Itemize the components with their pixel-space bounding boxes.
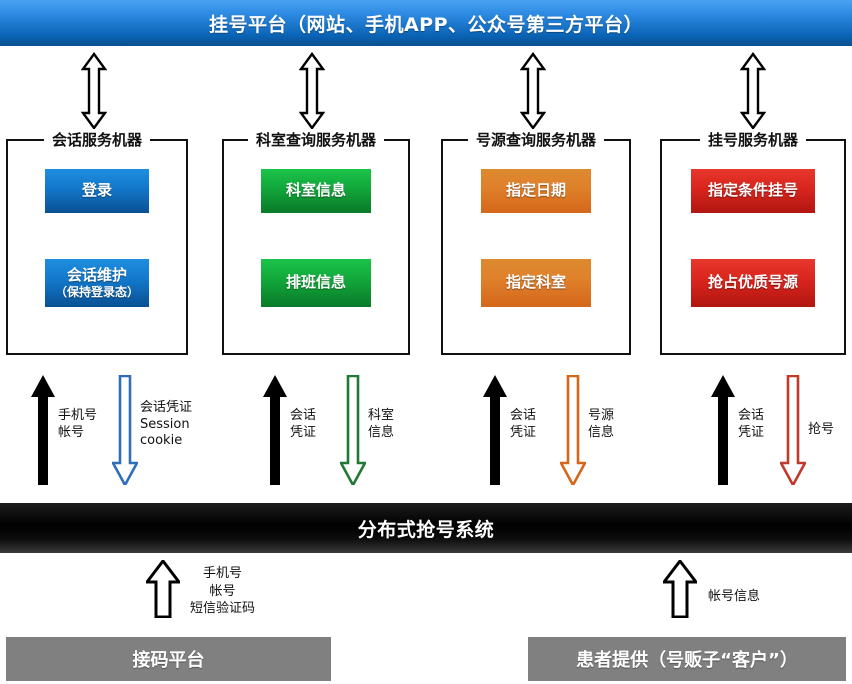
service-button-conditional-registration-label: 指定条件挂号	[708, 182, 798, 200]
hollow-arrow-up-icon-right	[663, 560, 697, 622]
service-button-department-info[interactable]: 科室信息	[261, 169, 371, 213]
service-button-specify-department[interactable]: 指定科室	[481, 259, 591, 307]
service-button-session-keepalive[interactable]: 会话维护 （保持登录态）	[45, 259, 149, 307]
service-button-login[interactable]: 登录	[45, 169, 149, 213]
top-platform-title: 挂号平台（网站、手机APP、公众号第三方平台）	[209, 10, 643, 37]
service-button-specify-date[interactable]: 指定日期	[481, 169, 591, 213]
group-box-department-query-server: 科室查询服务机器 科室信息 排班信息	[222, 139, 410, 355]
source-box-patient-provided-label: 患者提供（号贩子“客户”）	[576, 646, 798, 672]
flow-label-col4-down: 抢号	[808, 422, 834, 439]
flow-label-col1-up: 手机号 帐号	[58, 408, 97, 441]
group-title-slot-query-server: 号源查询服务机器	[468, 129, 604, 150]
arrow-down-icon-col1	[112, 375, 138, 489]
diagram-canvas: 挂号平台（网站、手机APP、公众号第三方平台） 会话服务机器 登录 会话维护 （…	[0, 0, 852, 684]
service-button-specify-department-label: 指定科室	[506, 274, 566, 292]
double-arrow-vertical-icon-1	[81, 52, 107, 130]
top-platform-bar: 挂号平台（网站、手机APP、公众号第三方平台）	[0, 0, 852, 46]
group-box-slot-query-server: 号源查询服务机器 指定日期 指定科室	[441, 139, 631, 355]
source-box-patient-provided[interactable]: 患者提供（号贩子“客户”）	[528, 637, 846, 681]
service-button-conditional-registration[interactable]: 指定条件挂号	[691, 169, 815, 213]
bottom-flow-label-right: 帐号信息	[708, 588, 760, 606]
service-button-login-label: 登录	[82, 182, 112, 200]
arrow-down-icon-col3	[560, 375, 586, 489]
group-title-session-server: 会话服务机器	[44, 129, 150, 150]
service-button-grab-premium-slot-label: 抢占优质号源	[708, 274, 798, 292]
source-box-sms-platform[interactable]: 接码平台	[6, 637, 331, 681]
flow-label-col2-down: 科室 信息	[368, 408, 394, 441]
service-button-session-keepalive-sublabel: （保持登录态）	[55, 285, 139, 299]
service-button-specify-date-label: 指定日期	[506, 182, 566, 200]
distributed-system-title: 分布式抢号系统	[358, 515, 495, 542]
service-button-schedule-info-label: 排班信息	[286, 274, 346, 292]
double-arrow-vertical-icon-3	[520, 52, 546, 130]
group-box-registration-server: 挂号服务机器 指定条件挂号 抢占优质号源	[660, 139, 846, 355]
flow-label-col3-up: 会话 凭证	[510, 408, 536, 441]
flow-label-col1-down: 会话凭证 Session cookie	[140, 400, 192, 450]
arrow-down-icon-col4	[780, 375, 806, 489]
group-title-department-query-server: 科室查询服务机器	[248, 129, 384, 150]
service-button-grab-premium-slot[interactable]: 抢占优质号源	[691, 259, 815, 307]
double-arrow-vertical-icon-2	[299, 52, 325, 130]
arrow-down-icon-col2	[340, 375, 366, 489]
service-button-department-info-label: 科室信息	[286, 182, 346, 200]
group-title-registration-server: 挂号服务机器	[700, 129, 806, 150]
flow-label-col3-down: 号源 信息	[588, 408, 614, 441]
source-box-sms-platform-label: 接码平台	[133, 646, 205, 672]
service-button-schedule-info[interactable]: 排班信息	[261, 259, 371, 307]
bottom-flow-label-left: 手机号 帐号 短信验证码	[190, 565, 255, 618]
arrow-up-icon-col1	[30, 375, 56, 489]
group-box-session-server: 会话服务机器 登录 会话维护 （保持登录态）	[6, 139, 188, 355]
service-button-session-keepalive-label: 会话维护	[67, 267, 127, 285]
distributed-system-bar: 分布式抢号系统	[0, 503, 852, 553]
arrow-up-icon-col4	[710, 375, 736, 489]
flow-label-col2-up: 会话 凭证	[290, 408, 316, 441]
hollow-arrow-up-icon-left	[146, 560, 180, 622]
double-arrow-vertical-icon-4	[740, 52, 766, 130]
arrow-up-icon-col2	[262, 375, 288, 489]
flow-label-col4-up: 会话 凭证	[738, 408, 764, 441]
arrow-up-icon-col3	[482, 375, 508, 489]
